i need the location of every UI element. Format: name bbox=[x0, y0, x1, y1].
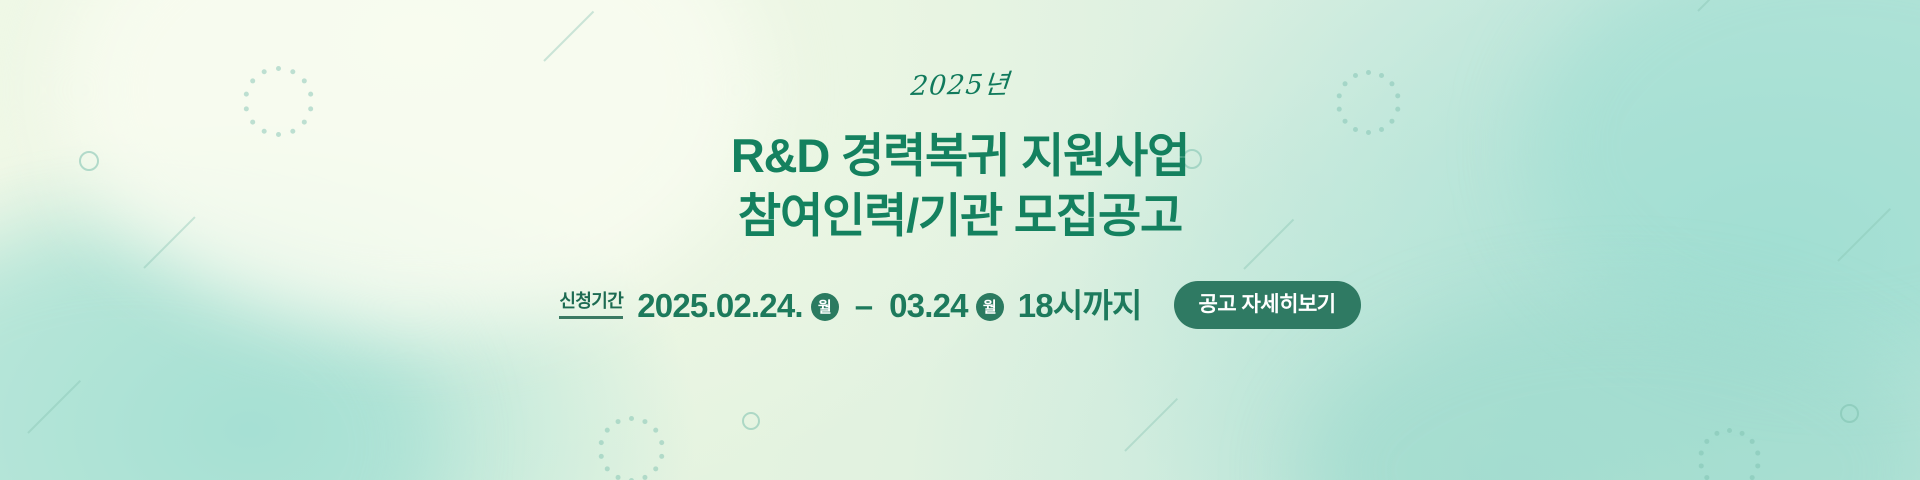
start-date: 2025.02.24. bbox=[637, 289, 803, 322]
promo-banner: 2025년 R&D 경력복귀 지원사업 참여인력/기관 모집공고 신청기간 20… bbox=[0, 0, 1920, 480]
title-line-1: R&D 경력복귀 지원사업 bbox=[731, 126, 1189, 186]
start-day-badge: 월 bbox=[811, 293, 839, 321]
year-label: 2025년 bbox=[909, 71, 1010, 100]
date-range-separator: – bbox=[853, 289, 875, 322]
application-period-row: 신청기간 2025.02.24. 월 – 03.24 월 18시까지 공고 자세… bbox=[559, 281, 1360, 329]
end-day-badge: 월 bbox=[976, 293, 1004, 321]
view-announcement-button[interactable]: 공고 자세히보기 bbox=[1174, 281, 1361, 329]
end-date: 03.24 bbox=[889, 289, 968, 322]
end-date-group: 03.24 월 bbox=[889, 289, 1004, 322]
page-title: R&D 경력복귀 지원사업 참여인력/기관 모집공고 bbox=[731, 126, 1189, 246]
deadline-time: 18시까지 bbox=[1018, 289, 1142, 322]
start-date-group: 2025.02.24. 월 bbox=[637, 289, 839, 322]
application-period-label: 신청기간 bbox=[559, 292, 623, 319]
title-line-2: 참여인력/기관 모집공고 bbox=[731, 186, 1189, 246]
banner-content: 2025년 R&D 경력복귀 지원사업 참여인력/기관 모집공고 신청기간 20… bbox=[0, 0, 1920, 480]
